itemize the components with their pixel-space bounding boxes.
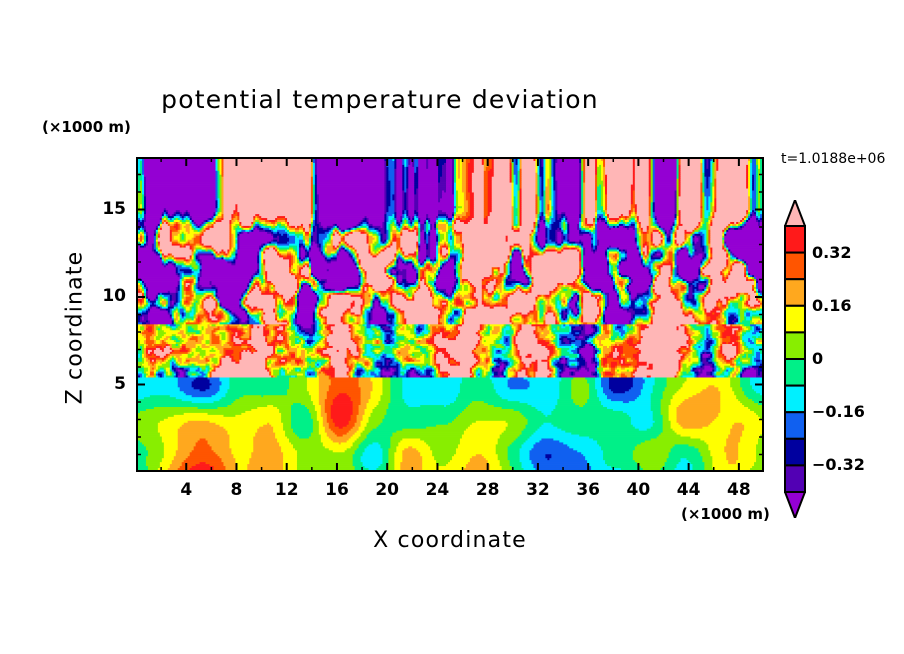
page-title: potential temperature deviation: [0, 85, 760, 114]
x-axis-title: X coordinate: [136, 528, 764, 553]
colorbar-band: [785, 386, 805, 413]
colorbar-tick-label: 0: [812, 349, 823, 368]
colorbar-tick-label: −0.16: [812, 402, 865, 421]
colorbar-band: [785, 439, 805, 466]
colorbar-band: [785, 332, 805, 359]
colorbar-tick-label: 0.16: [812, 296, 851, 315]
colorbar-band: [785, 253, 805, 280]
colorbar[interactable]: [784, 200, 806, 518]
colorbar-band: [785, 465, 805, 492]
x-tick-label: 32: [513, 480, 563, 500]
colorbar-over-arrow: [785, 200, 805, 226]
colorbar-swatches: [784, 200, 806, 518]
x-tick-label: 16: [312, 480, 362, 500]
contour-field: [138, 159, 762, 470]
x-tick-label: 44: [664, 480, 714, 500]
x-axis-units-label: (×1000 m): [681, 505, 770, 523]
timestamp-label: t=1.0188e+06: [781, 151, 885, 167]
y-axis-title: Z coordinate: [63, 198, 88, 458]
colorbar-band: [785, 279, 805, 306]
x-tick-label: 36: [563, 480, 613, 500]
colorbar-tick-label: 0.32: [812, 243, 851, 262]
colorbar-band: [785, 412, 805, 439]
x-tick-label: 20: [362, 480, 412, 500]
x-tick-label: 28: [463, 480, 513, 500]
x-tick-label: 40: [613, 480, 663, 500]
x-tick-label: 8: [211, 480, 261, 500]
colorbar-band: [785, 359, 805, 386]
x-tick-label: 24: [412, 480, 462, 500]
x-tick-label: 12: [262, 480, 312, 500]
colorbar-under-arrow: [785, 492, 805, 518]
colorbar-band: [785, 306, 805, 333]
colorbar-band: [785, 226, 805, 253]
x-tick-label: 48: [714, 480, 764, 500]
x-tick-label: 4: [161, 480, 211, 500]
colorbar-tick-label: −0.32: [812, 455, 865, 474]
plot-area[interactable]: [136, 157, 764, 472]
figure-root: potential temperature deviation (×1000 m…: [0, 0, 904, 654]
z-axis-units-label: (×1000 m): [42, 118, 131, 136]
